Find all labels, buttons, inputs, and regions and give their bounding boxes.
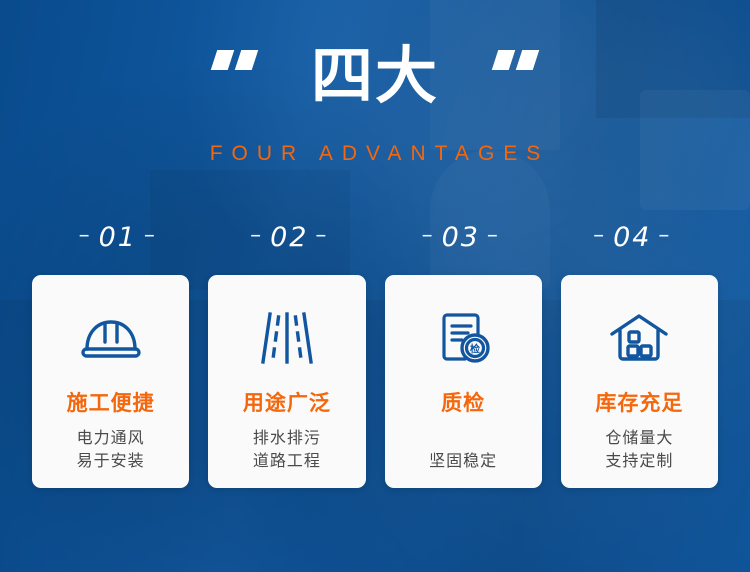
dash-left: –: [243, 223, 270, 248]
page-subtitle: FOUR ADVANTAGES: [0, 142, 750, 166]
desc-line: 易于安装: [77, 449, 145, 472]
step-number-03: –03–: [375, 222, 547, 253]
background-shape: [430, 150, 550, 290]
dash-right: –: [651, 223, 678, 248]
advantage-cards: 施工便捷 电力通风 易于安装 用途: [32, 275, 718, 488]
desc-line: 道路工程: [253, 449, 321, 472]
dash-right: –: [308, 223, 335, 248]
advantage-card-3[interactable]: 检 质检 坚固稳定: [385, 275, 542, 488]
road-icon: [257, 301, 317, 375]
hard-hat-icon: [78, 301, 144, 375]
desc-line: 电力通风: [77, 426, 145, 449]
step-number-02: –02–: [204, 222, 376, 253]
desc-line: 支持定制: [605, 449, 673, 472]
advantage-card-title: 用途广泛: [243, 387, 331, 417]
desc-line: 坚固稳定: [429, 449, 497, 472]
dash-right: –: [480, 223, 507, 248]
advantage-card-2[interactable]: 用途广泛 排水排污 道路工程: [208, 275, 365, 488]
advantage-card-desc: 排水排污 道路工程: [253, 426, 321, 472]
dash-right: –: [137, 223, 164, 248]
advantage-card-title: 施工便捷: [67, 387, 155, 417]
advantages-poster: 四大 FOUR ADVANTAGES –01– –02– –03– –04–: [0, 0, 750, 572]
advantage-card-desc: 仓储量大 支持定制: [605, 426, 673, 472]
quote-mark-left-icon: [214, 50, 255, 70]
step-numbers-row: –01– –02– –03– –04–: [32, 222, 718, 253]
desc-line: 排水排污: [253, 426, 321, 449]
dash-left: –: [72, 223, 99, 248]
inspection-badge-text: 检: [470, 342, 480, 355]
warehouse-icon: [608, 301, 670, 375]
step-number-value: 04: [613, 222, 651, 253]
advantage-card-desc: 坚固稳定: [429, 449, 497, 472]
dash-left: –: [586, 223, 613, 248]
step-number-value: 03: [442, 222, 480, 253]
advantage-card-4[interactable]: 库存充足 仓储量大 支持定制: [561, 275, 718, 488]
page-title: 四大: [311, 45, 439, 107]
step-number-value: 01: [99, 222, 137, 253]
dash-left: –: [415, 223, 442, 248]
advantage-card-desc: 电力通风 易于安装: [77, 426, 145, 472]
step-number-01: –01–: [32, 222, 204, 253]
step-number-value: 02: [270, 222, 308, 253]
poster-header: 四大 FOUR ADVANTAGES: [0, 0, 750, 166]
advantage-card-title: 质检: [441, 387, 485, 417]
advantage-card-1[interactable]: 施工便捷 电力通风 易于安装: [32, 275, 189, 488]
desc-line: 仓储量大: [605, 426, 673, 449]
quote-mark-right-icon: [495, 50, 536, 70]
inspection-document-icon: 检: [434, 301, 492, 375]
step-number-04: –04–: [547, 222, 719, 253]
title-row: 四大: [0, 36, 750, 116]
advantage-card-title: 库存充足: [595, 387, 683, 417]
